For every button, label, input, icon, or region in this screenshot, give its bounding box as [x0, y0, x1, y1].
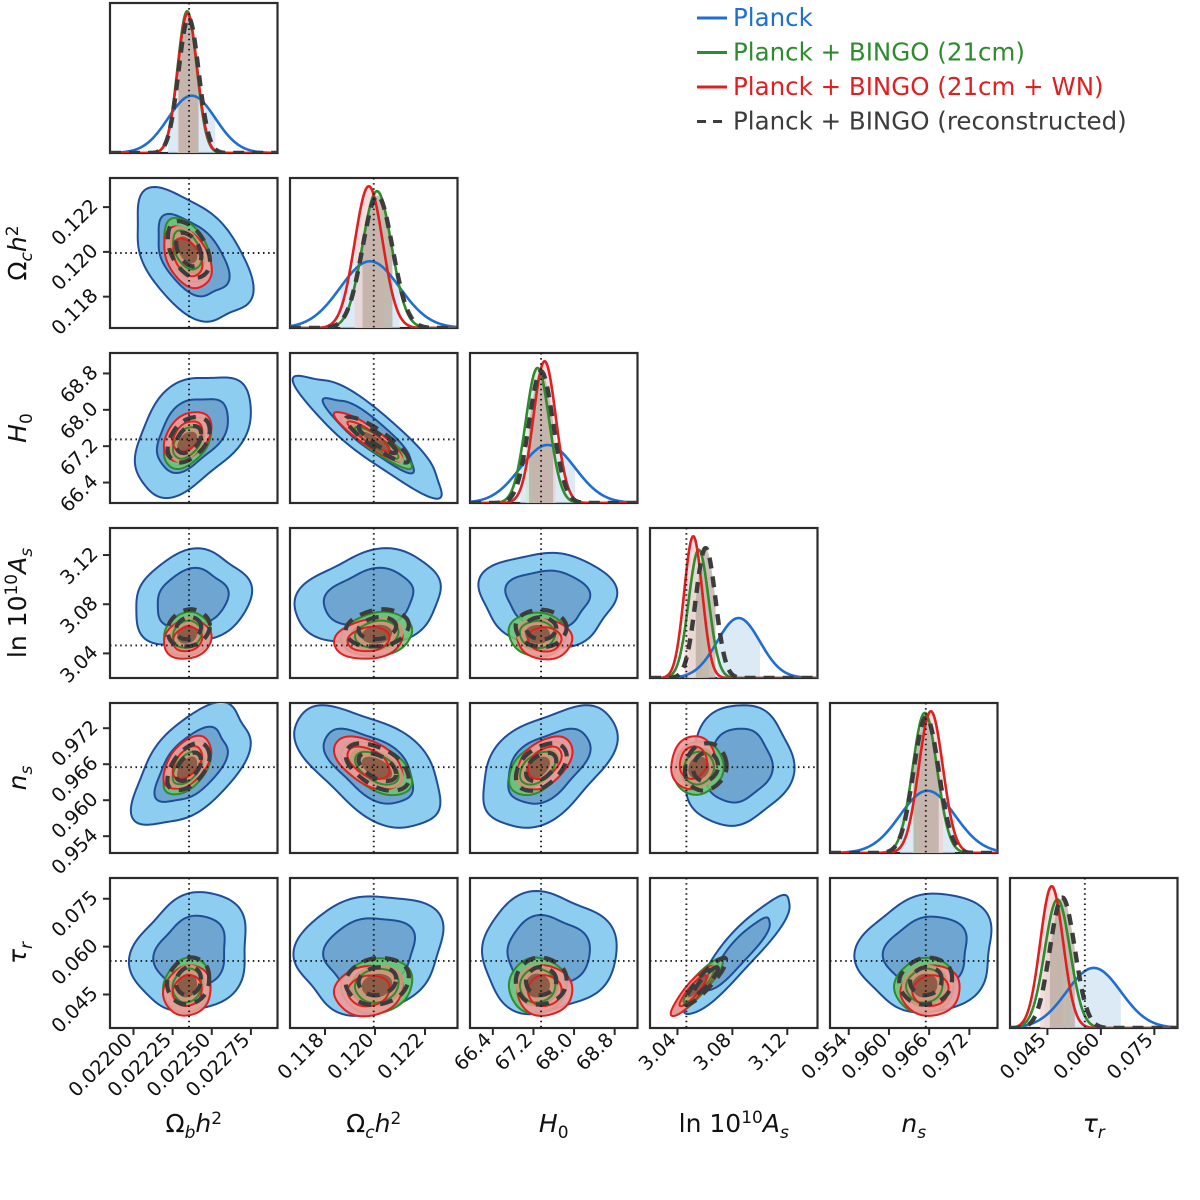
x-tick-label: 68.0 — [531, 1028, 578, 1075]
x-tick-label: 3.08 — [689, 1028, 736, 1075]
x-axis-title-ombh2: Ωbh2 — [165, 1109, 222, 1143]
y-tick-label: 66.4 — [56, 470, 103, 517]
panel-tau-vs-ombh2 — [103, 878, 278, 1035]
panel-diagonal-omch2 — [290, 178, 458, 328]
panel-lnAs-vs-omch2 — [290, 528, 458, 678]
panel-tau-vs-omch2 — [290, 878, 458, 1035]
panel-omch2-vs-ombh2 — [103, 178, 278, 328]
x-tick-label: 68.8 — [571, 1028, 618, 1075]
x-tick-label: 66.4 — [449, 1028, 496, 1075]
y-tick-label: 3.12 — [56, 542, 103, 589]
panel-H0-vs-ombh2 — [103, 353, 278, 503]
panel-ns-vs-H0 — [470, 703, 638, 853]
y-axis-title-lnAs: ln 1010As — [2, 548, 37, 658]
x-axis-title-tau: τr — [1083, 1109, 1106, 1143]
x-tick-label: 0.120 — [323, 1028, 379, 1084]
legend-label: Planck + BINGO (21cm + WN) — [733, 72, 1104, 101]
x-tick-label: 0.060 — [1049, 1028, 1105, 1084]
x-tick-label: 0.045 — [995, 1028, 1051, 1084]
y-tick-label: 0.122 — [47, 194, 103, 250]
panel-diagonal-ombh2 — [110, 3, 278, 153]
y-axis-title-omch2: Ωch2 — [3, 225, 37, 280]
x-tick-label: 67.2 — [490, 1028, 537, 1075]
panel-H0-vs-omch2 — [290, 353, 458, 503]
panel-diagonal-ns — [830, 703, 998, 853]
y-tick-label: 0.045 — [47, 982, 103, 1038]
legend: PlanckPlanck + BINGO (21cm)Planck + BING… — [697, 3, 1127, 136]
y-tick-label: 0.118 — [47, 284, 103, 340]
y-axis-title-H0: H0 — [3, 413, 37, 443]
panel-ns-vs-omch2 — [290, 703, 458, 853]
y-axis-title-tau: τr — [3, 941, 37, 964]
x-tick-label: 3.04 — [634, 1028, 681, 1075]
x-axis-title-lnAs: ln 1010As — [679, 1108, 789, 1143]
x-axis-title-H0: H0 — [539, 1109, 569, 1143]
y-axis-title-ns: ns — [3, 766, 37, 791]
x-tick-label: 0.118 — [273, 1028, 329, 1084]
x-axis-title-ns: ns — [901, 1109, 926, 1143]
panel-tau-vs-lnAs — [650, 878, 818, 1035]
panel-diagonal-lnAs — [650, 528, 818, 678]
legend-label: Planck — [733, 3, 814, 32]
x-tick-label: 0.972 — [917, 1028, 973, 1084]
legend-label: Planck + BINGO (reconstructed) — [733, 107, 1127, 136]
panel-diagonal-tau — [1010, 878, 1178, 1035]
corner-plot-canvas: 0.022000.022250.022500.02275Ωbh20.1180.1… — [0, 0, 1200, 1200]
panel-lnAs-vs-ombh2 — [103, 528, 278, 678]
y-tick-label: 0.120 — [47, 239, 103, 295]
panel-ns-vs-ombh2 — [103, 702, 278, 853]
panel-ns-vs-lnAs — [650, 703, 818, 853]
y-tick-label: 0.060 — [47, 934, 103, 990]
y-tick-label: 68.8 — [56, 361, 103, 408]
panel-tau-vs-ns — [830, 878, 998, 1035]
panel-diagonal-H0 — [470, 353, 638, 503]
panel-lnAs-vs-H0 — [470, 528, 638, 678]
x-axis-title-omch2: Ωch2 — [346, 1109, 401, 1143]
y-tick-label: 0.075 — [47, 886, 103, 942]
corner-plot-figure: 0.022000.022250.022500.02275Ωbh20.1180.1… — [0, 0, 1200, 1200]
x-tick-label: 3.12 — [744, 1028, 791, 1075]
y-tick-label: 3.08 — [56, 592, 103, 639]
y-tick-label: 68.0 — [56, 397, 103, 444]
x-tick-label: 0.075 — [1102, 1028, 1158, 1084]
y-tick-label: 3.04 — [56, 641, 103, 688]
legend-label: Planck + BINGO (21cm) — [733, 38, 1025, 67]
y-tick-label: 67.2 — [56, 433, 103, 480]
panel-tau-vs-H0 — [470, 878, 638, 1035]
x-tick-label: 0.122 — [373, 1028, 429, 1084]
